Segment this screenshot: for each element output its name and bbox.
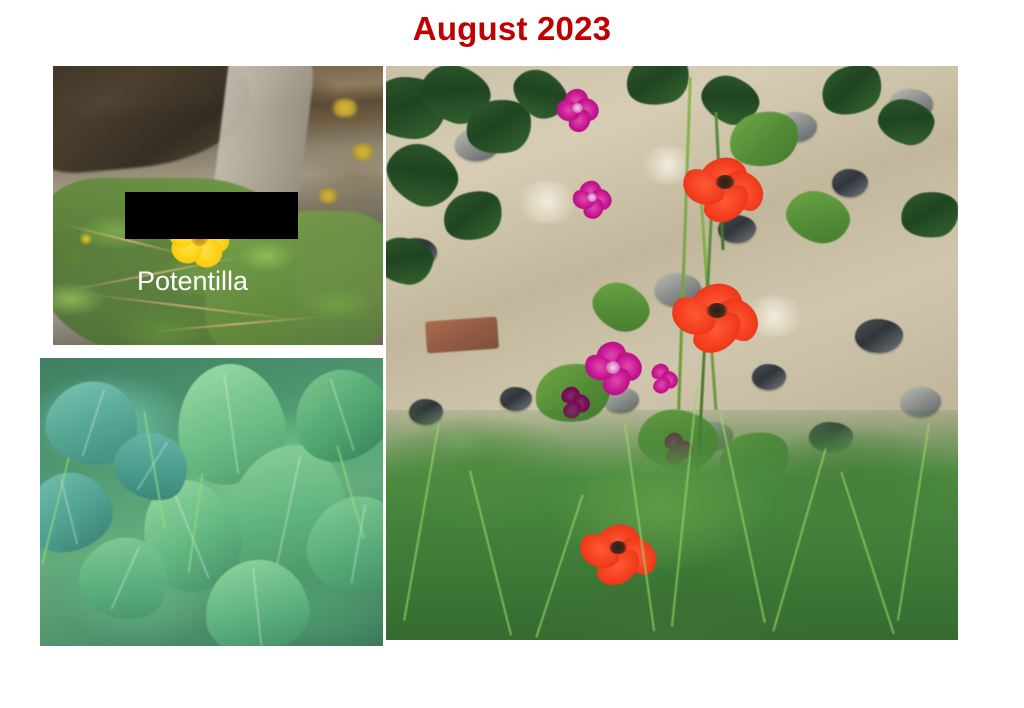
poppy-flower [580, 525, 660, 587]
geranium-flower [586, 342, 648, 396]
geranium-scene [386, 66, 958, 640]
flint-stone [855, 319, 903, 353]
geranium-flower [558, 89, 604, 133]
geranium-flower [575, 181, 615, 219]
lichen-patch [350, 144, 376, 160]
page-title: August 2023 [0, 9, 1024, 49]
mortar-patch [512, 181, 582, 223]
poppy-flower [683, 158, 769, 224]
brick-in-wall [425, 316, 499, 353]
lichen-patch [317, 189, 339, 203]
photo-foxglove[interactable]: Native foxglove [40, 358, 383, 646]
caption-potentilla: Potentilla [125, 192, 298, 239]
photo-wild-geranium-and-poppy[interactable]: Wild geranium and native poppy [386, 66, 958, 640]
caption-potentilla-text: Potentilla [137, 265, 298, 298]
geranium-flower [649, 364, 679, 392]
poppy-flower [672, 284, 764, 354]
foxglove-scene [40, 358, 383, 646]
photo-potentilla[interactable]: Potentilla [53, 66, 383, 345]
